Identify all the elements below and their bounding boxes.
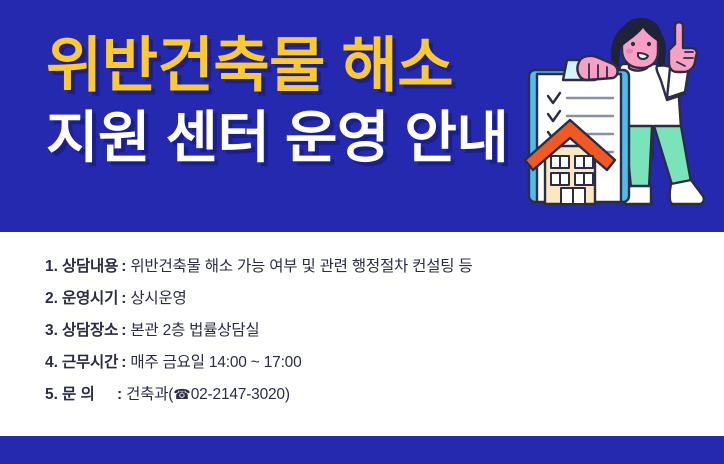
telephone-icon: ☎ bbox=[173, 387, 190, 401]
eye-left bbox=[631, 42, 635, 46]
detail-separator: : bbox=[121, 258, 126, 276]
detail-value: 위반건축물 해소 가능 여부 및 관련 행정절차 컨설팅 등 bbox=[130, 254, 472, 276]
detail-list: 1. 상담내용 : 위반건축물 해소 가능 여부 및 관련 행정절차 컨설팅 등… bbox=[45, 254, 473, 414]
mouth bbox=[638, 53, 648, 59]
detail-label: 상담장소 bbox=[62, 318, 118, 340]
detail-number: 2. bbox=[45, 290, 58, 308]
detail-phone-number: 02-2147-3020) bbox=[191, 386, 290, 404]
detail-number: 4. bbox=[45, 354, 58, 372]
detail-label: 상담내용 bbox=[62, 254, 118, 276]
detail-value: 상시운영 bbox=[130, 286, 186, 308]
page-title-line-1: 위반건축물 해소 bbox=[46, 36, 515, 96]
detail-row-2: 2. 운영시기 : 상시운영 bbox=[45, 286, 473, 318]
detail-label: 근무시간 bbox=[62, 350, 118, 372]
detail-row-5: 5. 문 의 : 건축과( ☎ 02-2147-3020) bbox=[45, 382, 473, 414]
detail-row-3: 3. 상담장소 : 본관 2층 법률상담실 bbox=[45, 318, 473, 350]
detail-value: 매주 금요일 14:00 ~ 17:00 bbox=[130, 350, 301, 372]
header-band: 위반건축물 해소 지원 센터 운영 안내 bbox=[0, 0, 724, 232]
hero-illustration bbox=[505, 8, 721, 220]
footer-bar bbox=[0, 436, 724, 464]
detail-row-4: 4. 근무시간 : 매주 금요일 14:00 ~ 17:00 bbox=[45, 350, 473, 382]
detail-separator: : bbox=[121, 322, 126, 340]
detail-value: 건축과( bbox=[126, 382, 173, 404]
detail-label: 문 의 bbox=[62, 382, 114, 404]
detail-row-1: 1. 상담내용 : 위반건축물 해소 가능 여부 및 관련 행정절차 컨설팅 등 bbox=[45, 254, 473, 286]
pants-right-leg bbox=[654, 126, 691, 188]
shoe-right bbox=[670, 180, 704, 204]
poster-container: 위반건축물 해소 지원 센터 운영 안내 bbox=[0, 0, 724, 464]
details-section: 1. 상담내용 : 위반건축물 해소 가능 여부 및 관련 행정절차 컨설팅 등… bbox=[0, 232, 724, 436]
detail-label: 운영시기 bbox=[62, 286, 118, 308]
eye-right bbox=[647, 42, 651, 46]
detail-separator: : bbox=[117, 386, 122, 404]
detail-separator: : bbox=[121, 290, 126, 308]
detail-value: 본관 2층 법률상담실 bbox=[130, 318, 259, 340]
detail-number: 1. bbox=[45, 258, 58, 276]
detail-number: 5. bbox=[45, 386, 58, 404]
detail-separator: : bbox=[121, 354, 126, 372]
cheek-blush bbox=[626, 49, 633, 54]
page-title-line-2: 지원 센터 운영 안내 bbox=[46, 110, 515, 166]
detail-number: 3. bbox=[45, 322, 58, 340]
title-block: 위반건축물 해소 지원 센터 운영 안내 bbox=[46, 36, 506, 166]
